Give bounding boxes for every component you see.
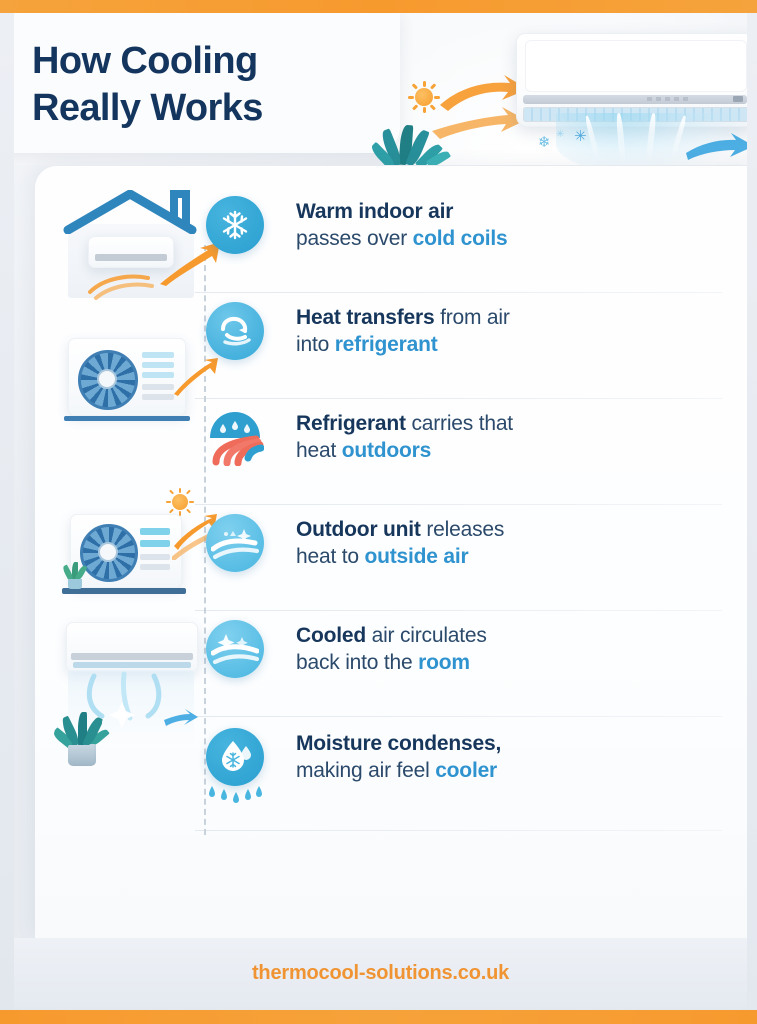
sun-icon-outdoor bbox=[166, 488, 194, 516]
bottom-accent-bar bbox=[0, 1010, 757, 1024]
row-divider bbox=[195, 398, 722, 399]
condensation-drips bbox=[204, 784, 266, 806]
step-line-2: back into the room bbox=[296, 649, 716, 677]
heat-release-dome-icon bbox=[206, 408, 264, 466]
step-line-2: passes over cold coils bbox=[296, 225, 716, 253]
header-plant-icon bbox=[378, 121, 452, 165]
ac-led-indicator bbox=[733, 96, 743, 102]
step-rest-text: from air bbox=[434, 306, 509, 329]
heat-transfer-swirl-icon bbox=[206, 302, 264, 360]
step-bold-text: Cooled bbox=[296, 624, 366, 647]
step-highlight-text: outdoors bbox=[342, 439, 431, 462]
step-pre-text: making air feel bbox=[296, 759, 435, 782]
step-highlight-text: cooler bbox=[435, 759, 497, 782]
footer-website-url[interactable]: thermocool-solutions.co.uk bbox=[14, 962, 747, 985]
step-line-1: Heat transfers from air bbox=[296, 304, 716, 331]
row-divider bbox=[195, 292, 722, 293]
step-line-1: Warm indoor air bbox=[296, 198, 716, 225]
top-accent-bar bbox=[0, 0, 757, 13]
water-droplet-snowflake-icon bbox=[206, 728, 264, 786]
illustration-condenser-unit bbox=[64, 336, 194, 434]
step-pre-text: passes over bbox=[296, 227, 413, 250]
step-bold-text: Heat transfers bbox=[296, 306, 434, 329]
step-highlight-text: refrigerant bbox=[335, 333, 438, 356]
footer-section: thermocool-solutions.co.uk bbox=[14, 938, 747, 1010]
badge-heat-transfer[interactable] bbox=[206, 302, 264, 360]
infographic-poster: How Cooling Really Works bbox=[0, 0, 757, 1024]
step-bold-text: Moisture condenses, bbox=[296, 732, 501, 755]
outdoor-airflow-icon bbox=[206, 514, 264, 572]
badge-cool-airflow[interactable] bbox=[206, 620, 264, 678]
wall-ac-unit bbox=[66, 622, 198, 672]
step-text-5: Cooled air circulates back into the room bbox=[296, 622, 716, 677]
warm-air-swirl bbox=[86, 266, 166, 300]
step-highlight-text: outside air bbox=[364, 545, 468, 568]
outdoor-fan-hub bbox=[98, 542, 118, 562]
step-line-2: heat outdoors bbox=[296, 437, 716, 465]
step-text-1: Warm indoor air passes over cold coils bbox=[296, 198, 716, 253]
step-pre-text: heat to bbox=[296, 545, 364, 568]
badge-heat-release[interactable] bbox=[206, 408, 264, 466]
step-rest-text: releases bbox=[421, 518, 504, 541]
step-text-6: Moisture condenses, making air feel cool… bbox=[296, 730, 716, 785]
badge-outdoor-airflow[interactable] bbox=[206, 514, 264, 572]
left-edge-strip bbox=[0, 13, 14, 1010]
step-rest-text: carries that bbox=[406, 412, 513, 435]
step-line-1: Cooled air circulates bbox=[296, 622, 716, 649]
step-pre-text: back into the bbox=[296, 651, 418, 674]
step-bold-text: Outdoor unit bbox=[296, 518, 421, 541]
row-divider bbox=[195, 504, 722, 505]
small-plant-icon bbox=[64, 562, 86, 588]
step-line-1: Refrigerant carries that bbox=[296, 410, 716, 437]
step-line-2: making air feel cooler bbox=[296, 757, 716, 785]
snowflake-icon bbox=[206, 196, 264, 254]
title-line-2: Really Works bbox=[32, 85, 362, 132]
fan-hub bbox=[97, 369, 117, 389]
step-bold-text: Refrigerant bbox=[296, 412, 406, 435]
step-text-2: Heat transfers from air into refrigerant bbox=[296, 304, 716, 359]
page-title: How Cooling Really Works bbox=[32, 38, 362, 132]
snowflake-icon: ❄ bbox=[538, 135, 551, 150]
illustration-outdoor-condenser bbox=[60, 500, 210, 606]
row-divider bbox=[195, 610, 722, 611]
step-line-2: heat to outside air bbox=[296, 543, 716, 571]
step-text-4: Outdoor unit releases heat to outside ai… bbox=[296, 516, 716, 571]
title-line-1: How Cooling bbox=[32, 38, 362, 85]
condenser-base bbox=[64, 416, 190, 421]
step-text-3: Refrigerant carries that heat outdoors bbox=[296, 410, 716, 465]
badge-snowflake[interactable] bbox=[206, 196, 264, 254]
cool-airflow-icon bbox=[206, 620, 264, 678]
step-line-1: Moisture condenses, bbox=[296, 730, 716, 757]
badge-condensation[interactable] bbox=[206, 728, 264, 786]
ac-display-dots bbox=[647, 97, 691, 101]
ac-body bbox=[525, 40, 747, 92]
step-highlight-text: cold coils bbox=[413, 227, 508, 250]
step-line-1: Outdoor unit releases bbox=[296, 516, 716, 543]
snowflake-icon-small: ✳ bbox=[556, 127, 564, 142]
header-section: How Cooling Really Works bbox=[0, 13, 757, 165]
step-pre-text: into bbox=[296, 333, 335, 356]
snowflake-icon-2: ✳ bbox=[574, 129, 587, 144]
ac-front-strip bbox=[523, 95, 747, 104]
heat-arrow-step2 bbox=[172, 358, 220, 398]
house-roof-icon bbox=[62, 190, 202, 234]
illustration-house-indoor-unit bbox=[62, 190, 202, 298]
right-edge-strip bbox=[747, 13, 757, 1010]
illustration-plant-step6 bbox=[58, 716, 106, 772]
row-divider bbox=[195, 830, 722, 831]
step-pre-text: heat bbox=[296, 439, 342, 462]
row-divider bbox=[195, 716, 722, 717]
step-line-2: into refrigerant bbox=[296, 331, 716, 359]
outdoor-base-platform bbox=[62, 588, 186, 594]
step-highlight-text: room bbox=[418, 651, 470, 674]
step-bold-text: Warm indoor air bbox=[296, 200, 453, 223]
step-rest-text: air circulates bbox=[366, 624, 487, 647]
